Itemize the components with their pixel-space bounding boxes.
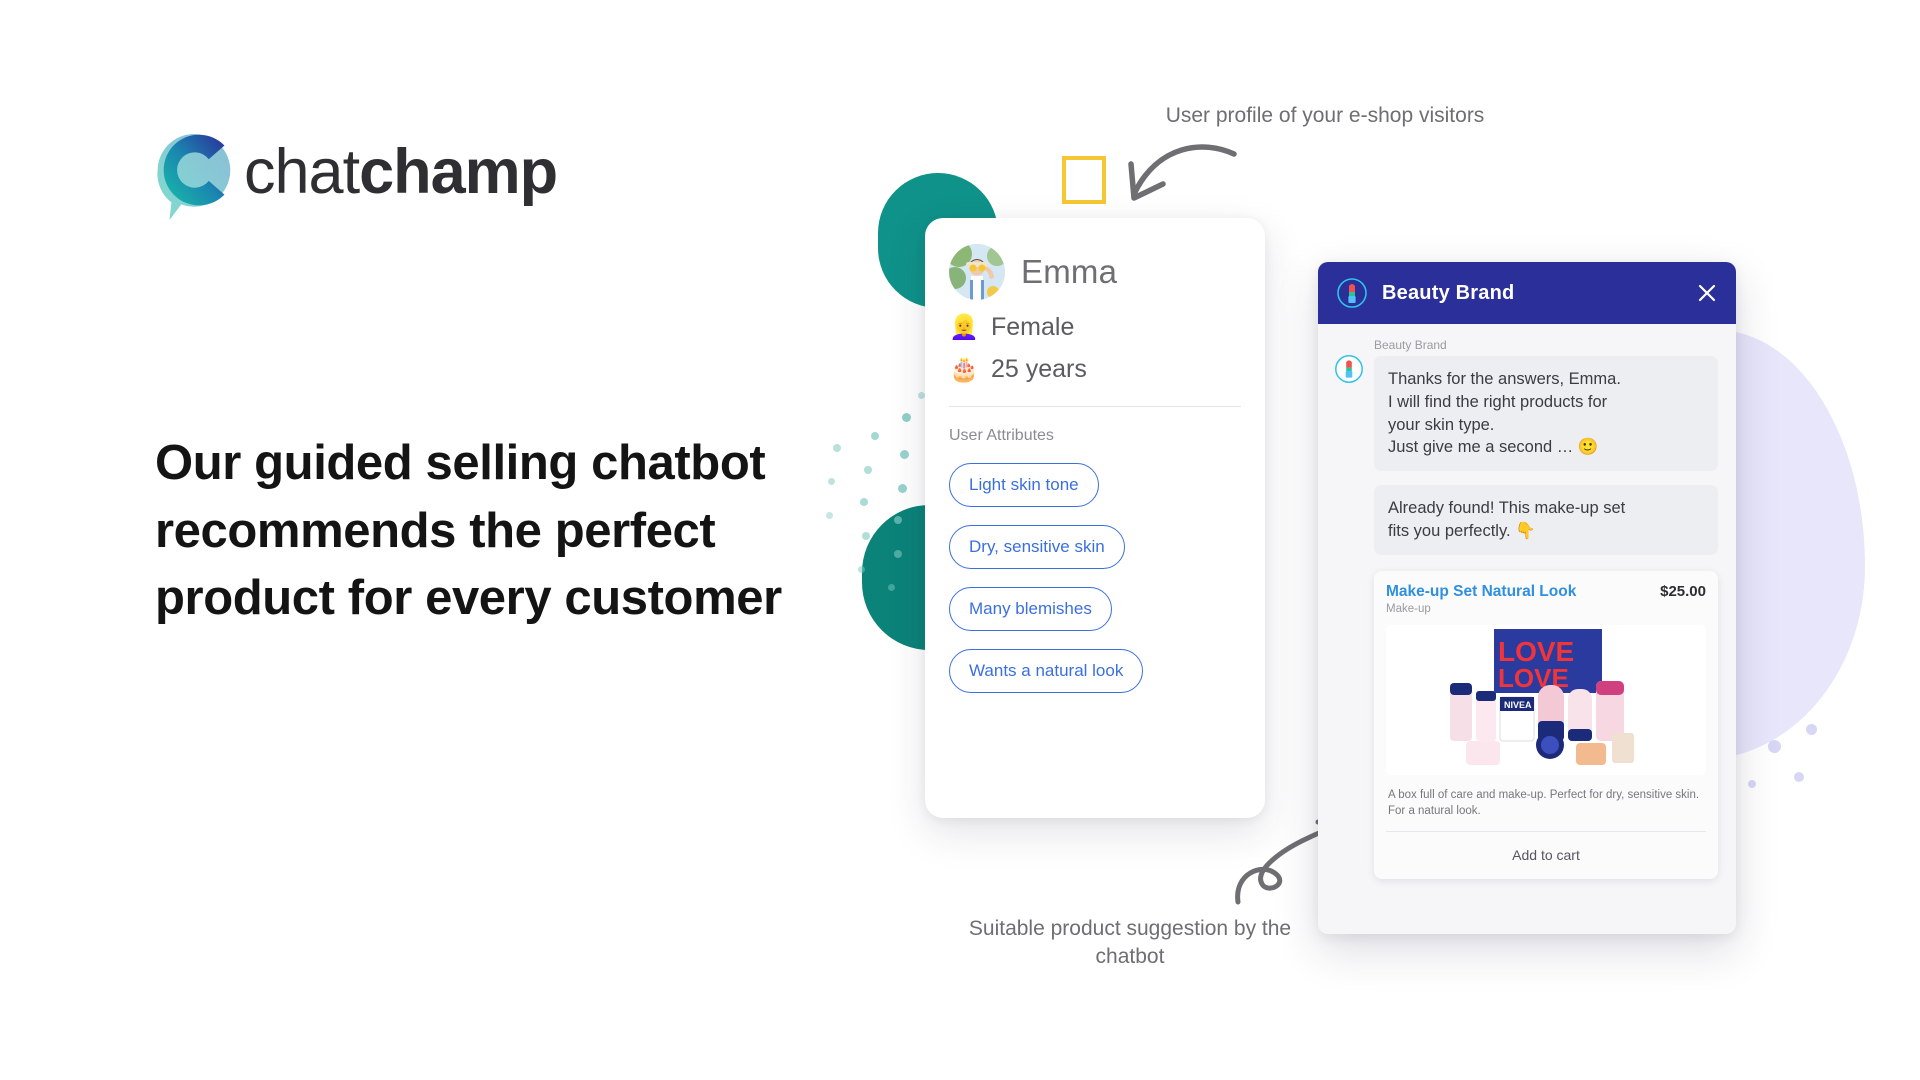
chat-bubble-c-logo-icon bbox=[140, 118, 248, 226]
female-person-icon: 👱‍♀️ bbox=[949, 313, 979, 342]
profile-name: Emma bbox=[1021, 253, 1117, 291]
chat-widget: Beauty Brand Beauty Brand bbox=[1318, 262, 1736, 934]
avatar bbox=[949, 244, 1005, 300]
user-attributes-label: User Attributes bbox=[949, 427, 1241, 445]
brand-logo-text-light: chat bbox=[244, 137, 359, 207]
profile-header: Emma bbox=[949, 244, 1241, 300]
decorative-dot bbox=[864, 466, 872, 474]
divider bbox=[949, 406, 1241, 407]
chat-message-bubble: Thanks for the answers, Emma. I will fin… bbox=[1374, 356, 1718, 471]
decorative-dot bbox=[900, 450, 909, 459]
profile-row-age: 🎂 25 years bbox=[949, 355, 1241, 384]
attribute-pill[interactable]: Light skin tone bbox=[949, 463, 1099, 507]
product-category: Make-up bbox=[1386, 603, 1706, 615]
product-card-header: Make-up Set Natural Look $25.00 bbox=[1386, 583, 1706, 601]
add-to-cart-button[interactable]: Add to cart bbox=[1386, 832, 1706, 879]
profile-age-value: 25 years bbox=[991, 355, 1087, 384]
brand-logo-text-bold: champ bbox=[359, 137, 557, 207]
decorative-dot bbox=[894, 550, 902, 558]
decorative-dot bbox=[862, 532, 870, 540]
decorative-dot bbox=[1806, 724, 1817, 735]
chat-message-sender: Beauty Brand bbox=[1374, 338, 1718, 352]
annotation-product-suggestion: Suitable product suggestion by the chatb… bbox=[960, 915, 1300, 972]
decorative-dot bbox=[1794, 772, 1804, 782]
profile-gender-value: Female bbox=[991, 313, 1074, 342]
product-description: A box full of care and make-up. Perfect … bbox=[1386, 775, 1706, 832]
attribute-pill[interactable]: Dry, sensitive skin bbox=[949, 525, 1125, 569]
attribute-pill[interactable]: Many blemishes bbox=[949, 587, 1112, 631]
product-card[interactable]: Make-up Set Natural Look $25.00 Make-up … bbox=[1374, 571, 1718, 880]
page-title: Our guided selling chatbot recommends th… bbox=[155, 430, 835, 633]
attribute-pill[interactable]: Wants a natural look bbox=[949, 649, 1143, 693]
brand-logo-text: chatchamp bbox=[244, 141, 557, 204]
decorative-dot bbox=[888, 584, 895, 591]
profile-row-gender: 👱‍♀️ Female bbox=[949, 313, 1241, 342]
svg-text:NIVEA: NIVEA bbox=[1504, 700, 1532, 710]
makeup-products-photo: LOVE LOVE NIVEA bbox=[1386, 625, 1706, 775]
user-attributes-list: Light skin tone Dry, sensitive skin Many… bbox=[949, 445, 1241, 693]
decorative-dot bbox=[1748, 780, 1756, 788]
chat-message-bubble: Already found! This make-up set fits you… bbox=[1374, 485, 1718, 555]
accent-square-icon bbox=[1062, 156, 1106, 204]
decorative-dot bbox=[918, 392, 925, 399]
product-price: $25.00 bbox=[1660, 583, 1706, 600]
lipstick-brand-icon bbox=[1336, 277, 1368, 309]
lipstick-brand-icon bbox=[1334, 354, 1364, 384]
annotation-arrow-top-icon bbox=[1118, 138, 1238, 218]
decorative-dot bbox=[898, 484, 907, 493]
chat-message-list: Beauty Brand Thanks for the answers, Emm… bbox=[1318, 324, 1736, 879]
decorative-dot bbox=[860, 498, 868, 506]
chat-message-content: Beauty Brand Thanks for the answers, Emm… bbox=[1374, 338, 1718, 471]
decorative-dot bbox=[902, 413, 911, 422]
chat-header: Beauty Brand bbox=[1318, 262, 1736, 324]
decorative-dot bbox=[894, 516, 902, 524]
brand-logo: chatchamp bbox=[140, 118, 557, 226]
decorative-dot bbox=[858, 566, 865, 573]
birthday-cake-icon: 🎂 bbox=[949, 355, 979, 384]
product-name: Make-up Set Natural Look bbox=[1386, 583, 1660, 601]
chat-brand-title: Beauty Brand bbox=[1382, 282, 1682, 305]
user-profile-card: Emma 👱‍♀️ Female 🎂 25 years User Attribu… bbox=[925, 218, 1265, 818]
decorative-dot bbox=[1768, 740, 1781, 753]
annotation-user-profile: User profile of your e-shop visitors bbox=[1160, 102, 1490, 130]
decorative-dot bbox=[871, 432, 879, 440]
slide-canvas: chatchamp Our guided selling chatbot rec… bbox=[0, 0, 1920, 1080]
chat-message: Beauty Brand Thanks for the answers, Emm… bbox=[1334, 338, 1718, 471]
close-icon[interactable] bbox=[1696, 282, 1718, 304]
